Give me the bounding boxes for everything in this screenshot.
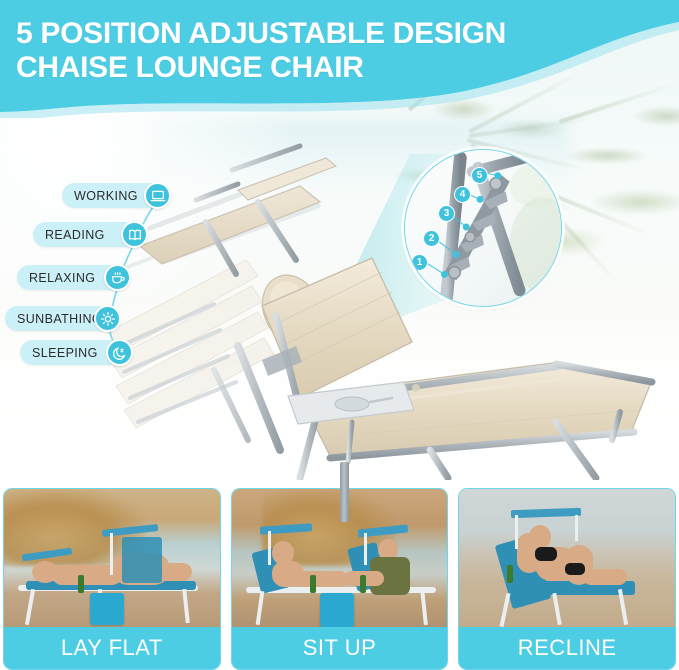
- feature-pill-working[interactable]: WORKING: [62, 183, 168, 208]
- panel-photo-recline: [459, 489, 675, 627]
- feature-label: SUNBATHING: [17, 312, 102, 326]
- feature-pill-reading[interactable]: READING: [33, 222, 145, 247]
- usage-panel-lay-flat[interactable]: LAY FLAT: [3, 488, 221, 670]
- feature-label: SLEEPING: [32, 346, 98, 360]
- feature-label: RELAXING: [29, 271, 95, 285]
- panel-caption-sit-up: SIT UP: [232, 627, 448, 669]
- position-badge-2: 2: [423, 230, 440, 247]
- feature-pill-sunbathing[interactable]: SUNBATHING: [5, 306, 118, 331]
- panel-caption-recline: RECLINE: [459, 627, 675, 669]
- usage-panel-recline[interactable]: RECLINE: [458, 488, 676, 670]
- feature-label: WORKING: [74, 189, 138, 203]
- feature-pill-relaxing[interactable]: RELAXING: [17, 265, 128, 290]
- header-banner: 5 POSITION ADJUSTABLE DESIGN CHAISE LOUN…: [0, 0, 679, 118]
- title-line-1: 5 POSITION ADJUSTABLE DESIGN: [16, 17, 506, 50]
- coffee-icon: [104, 264, 131, 291]
- feature-label: READING: [45, 228, 105, 242]
- panel-photo-lay-flat: [4, 489, 220, 627]
- laptop-icon: [144, 182, 171, 209]
- position-badge-3: 3: [438, 205, 455, 222]
- panel-caption-lay-flat: LAY FLAT: [4, 627, 220, 669]
- position-badge-5: 5: [471, 167, 488, 184]
- position-badge-4: 4: [454, 186, 471, 203]
- table-support-pole: [340, 462, 349, 522]
- position-badge-1: 1: [411, 254, 428, 271]
- sun-icon: [94, 305, 121, 332]
- title-line-2: CHAISE LOUNGE CHAIR: [16, 51, 646, 85]
- feature-pill-sleeping[interactable]: SLEEPING: [20, 340, 130, 365]
- infographic-root: 5 POSITION ADJUSTABLE DESIGN CHAISE LOUN…: [0, 0, 679, 670]
- feature-pill-list: WORKING READING RELAXING: [0, 175, 190, 375]
- moon-icon: [106, 339, 133, 366]
- adjustment-mechanism-magnifier: 1 2 3 4 5: [404, 149, 562, 307]
- book-icon: [121, 221, 148, 248]
- page-title: 5 POSITION ADJUSTABLE DESIGN CHAISE LOUN…: [16, 17, 646, 85]
